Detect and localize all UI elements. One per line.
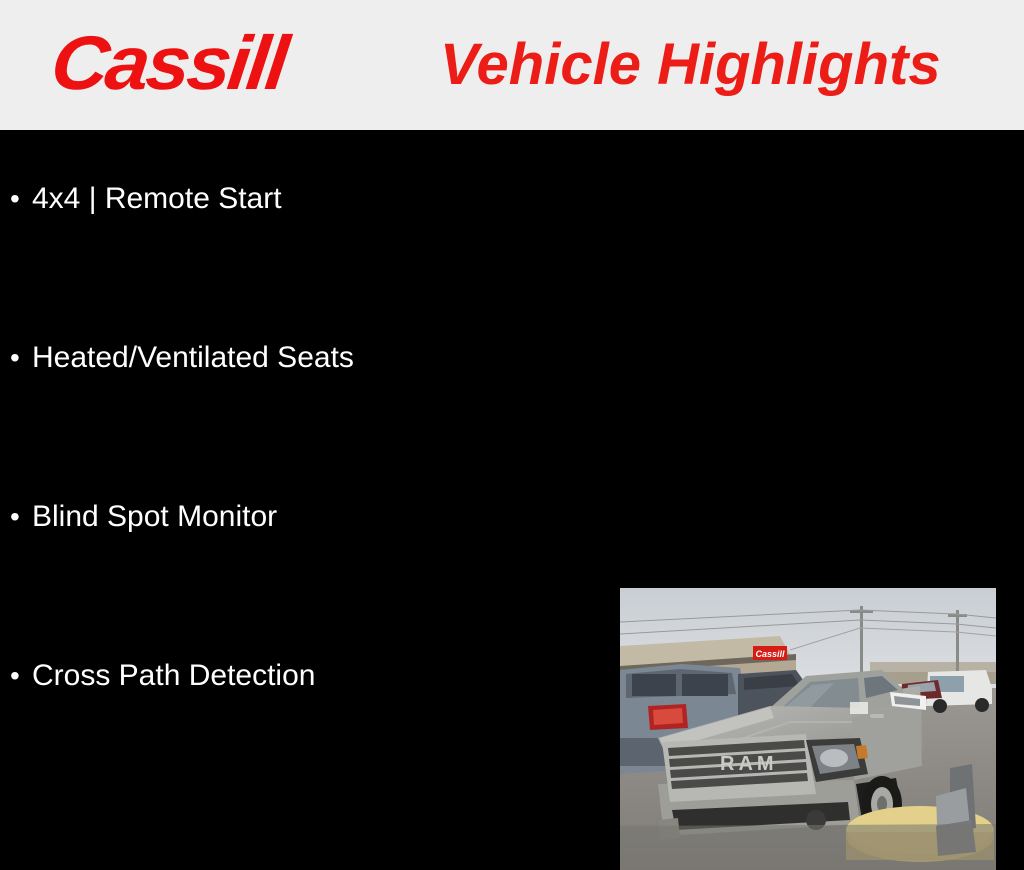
list-item-label: Blind Spot Monitor <box>32 500 277 534</box>
slide-header: Cassill Vehicle Highlights <box>0 0 1024 130</box>
list-item: • 4x4 | Remote Start <box>10 182 282 216</box>
slide-body: • 4x4 | Remote Start • Heated/Ventilated… <box>0 130 1024 768</box>
bullet-point-icon: • <box>10 500 32 534</box>
building-sign-text: Cassill <box>755 649 785 659</box>
cassill-logo: Cassill <box>52 22 352 106</box>
bullet-point-icon: • <box>10 182 32 216</box>
list-item-label: Heated/Ventilated Seats <box>32 341 354 375</box>
list-item-label: Cross Path Detection <box>32 659 315 693</box>
bullet-point-icon: • <box>10 341 32 375</box>
bullet-point-icon: • <box>10 659 32 693</box>
list-item: • Blind Spot Monitor <box>10 500 277 534</box>
list-item-label: 4x4 | Remote Start <box>32 182 282 216</box>
slide-root: Cassill Vehicle Highlights • 4x4 | Remot… <box>0 0 1024 768</box>
vehicle-photo-image: Cassill <box>620 588 996 870</box>
page-title: Vehicle Highlights <box>440 30 1000 100</box>
cassill-logo-text: Cassill <box>47 26 289 102</box>
vehicle-photo: Cassill <box>620 588 996 870</box>
list-item: • Cross Path Detection <box>10 659 315 693</box>
ram-grille-badge: RAM <box>720 753 778 775</box>
list-item: • Heated/Ventilated Seats <box>10 341 354 375</box>
